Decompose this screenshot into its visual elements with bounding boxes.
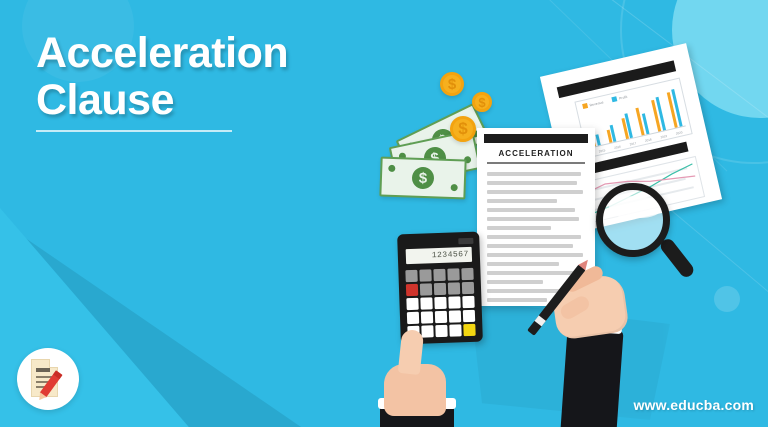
pencil-band <box>53 370 62 379</box>
bar-group <box>636 105 653 135</box>
document-line <box>36 368 50 372</box>
bar-group <box>666 88 685 127</box>
document-text-line <box>487 181 577 185</box>
document-text-line <box>487 235 581 239</box>
magnifier-handle <box>658 236 696 279</box>
calculator-key[interactable] <box>449 296 461 308</box>
document-title: ACCELERATION <box>477 149 595 158</box>
document-text-line <box>487 190 583 194</box>
calculator-key[interactable] <box>407 312 419 324</box>
document-text-line <box>487 226 551 230</box>
x-tick-label: 2020 <box>675 130 682 135</box>
document-text-line <box>487 298 547 302</box>
title-underline <box>36 130 232 132</box>
calculator[interactable]: 1234567 <box>397 232 483 345</box>
document-text-line <box>487 208 575 212</box>
site-url: www.educba.com <box>633 397 754 413</box>
lens-glare <box>609 196 661 218</box>
calculator-key[interactable] <box>434 269 446 281</box>
educba-logo-badge <box>17 348 79 410</box>
calculator-display-value: 1234567 <box>432 250 472 260</box>
calculator-key[interactable] <box>463 310 475 322</box>
solar-panel <box>458 238 473 245</box>
document-header-bar <box>484 134 588 143</box>
left-hand-pointing <box>376 330 472 427</box>
calculator-key[interactable] <box>448 282 460 294</box>
calculator-key[interactable] <box>449 311 461 323</box>
decorative-circle-small <box>714 286 740 312</box>
calculator-key[interactable] <box>420 297 432 309</box>
x-tick-label: 2015 <box>598 148 605 153</box>
calculator-key[interactable] <box>448 268 460 280</box>
calculator-key[interactable] <box>462 268 474 280</box>
calculator-keypad[interactable] <box>405 268 475 338</box>
calculator-key[interactable] <box>421 312 433 324</box>
document-text-line <box>487 253 583 257</box>
calculator-key[interactable] <box>462 282 474 294</box>
x-tick-label: 2016 <box>614 145 621 150</box>
coin: $ <box>440 72 464 96</box>
banknote-corner-mark <box>451 184 458 191</box>
page-title-line-2: Clause <box>36 76 174 124</box>
calculator-key[interactable] <box>420 283 432 295</box>
x-tick-label: 2019 <box>660 134 667 139</box>
bar-group <box>651 96 669 132</box>
calculator-key[interactable] <box>434 283 446 295</box>
calculator-key[interactable] <box>419 269 431 281</box>
banknote-currency-symbol: $ <box>412 167 435 190</box>
banknote-corner-mark <box>388 165 395 172</box>
document-text-line <box>487 172 581 176</box>
suit-sleeve <box>560 326 623 427</box>
coin: $ <box>450 116 476 142</box>
banner-title-block: Acceleration Clause <box>36 30 366 132</box>
x-tick-label: 2018 <box>645 137 652 142</box>
index-finger <box>398 329 424 375</box>
document-text-line <box>487 262 559 266</box>
page-fold <box>49 359 58 368</box>
calculator-key[interactable] <box>405 270 417 282</box>
calculator-key[interactable] <box>406 284 418 296</box>
page-title-line-1: Acceleration <box>36 29 288 77</box>
document-text-line <box>487 217 579 221</box>
magnifying-glass-icon <box>596 183 696 283</box>
document-text-line <box>487 280 543 284</box>
bar-group <box>620 113 636 139</box>
document-text-line <box>487 199 557 203</box>
calculator-key[interactable] <box>406 298 418 310</box>
calculator-key[interactable] <box>435 311 447 323</box>
document-title-rule <box>487 162 585 164</box>
document-text-line <box>487 244 573 248</box>
magnifier-lens <box>596 183 670 257</box>
coin: $ <box>472 92 492 112</box>
pencil-eraser-band <box>534 315 545 326</box>
banner-canvas: Acceleration Clause Revenue <box>0 0 768 427</box>
calculator-key[interactable] <box>435 297 447 309</box>
page-title: Acceleration Clause <box>36 30 366 124</box>
calculator-key[interactable] <box>463 296 475 308</box>
x-tick-label: 2017 <box>629 141 636 146</box>
calculator-display: 1234567 <box>406 247 472 264</box>
banknote: $ <box>379 157 466 200</box>
